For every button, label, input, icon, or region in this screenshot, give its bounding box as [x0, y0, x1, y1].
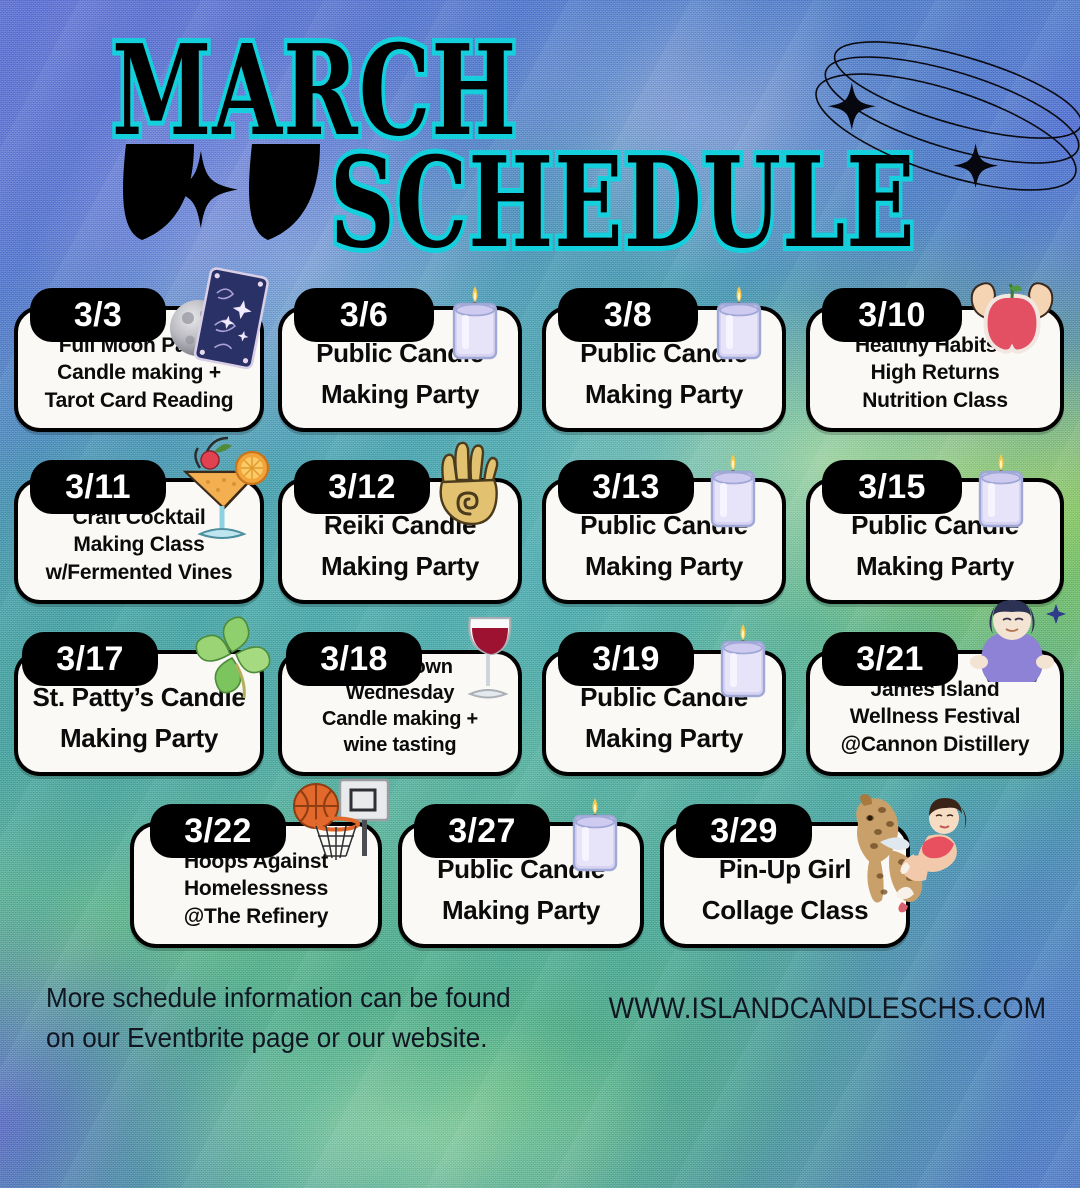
event-title: Reiki CandleMaking Party — [292, 505, 508, 586]
event-date-badge: 3/27 — [414, 804, 550, 858]
event-date-badge: 3/10 — [822, 288, 962, 342]
event-title: Craft CocktailMaking Classw/Fermented Vi… — [28, 504, 250, 586]
event-date-badge: 3/21 — [822, 632, 958, 686]
event-date-badge: 3/6 — [294, 288, 434, 342]
event-date: 3/6 — [340, 298, 388, 332]
event-date: 3/13 — [592, 470, 660, 504]
website-url[interactable]: WWW.ISLANDCANDLESCHS.COM — [608, 992, 1046, 1026]
orbit-rings-sparkles-icon — [790, 28, 1080, 228]
event-date: 3/11 — [65, 470, 131, 504]
event-date: 3/19 — [592, 642, 660, 676]
event-title: James IslandWellness Festival@Cannon Dis… — [820, 676, 1050, 758]
event-date: 3/29 — [710, 814, 778, 848]
footer-note-line1: More schedule information can be found — [46, 978, 511, 1018]
event-date: 3/10 — [858, 298, 926, 332]
event-date: 3/12 — [328, 470, 396, 504]
footer-note-line2: on our Eventbrite page or our website. — [46, 1018, 511, 1058]
event-title: Healthy Habits +High ReturnsNutrition Cl… — [820, 332, 1050, 414]
event-title: Public CandleMaking Party — [556, 505, 772, 586]
page-title-march: MARCH — [112, 16, 509, 120]
event-date-badge: 3/11 — [30, 460, 166, 514]
event-date-badge: 3/12 — [294, 460, 430, 514]
event-title: St. Patty’s CandleMaking Party — [28, 677, 250, 758]
event-title: Full Moon Party:Candle making +Tarot Car… — [28, 332, 250, 414]
petal-swoosh-sparkle-icon — [120, 140, 330, 245]
event-date-badge: 3/15 — [822, 460, 962, 514]
event-date-badge: 3/17 — [22, 632, 158, 686]
event-date-badge: 3/19 — [558, 632, 694, 686]
event-date: 3/15 — [858, 470, 926, 504]
poster-header: MARCH SCHEDULE — [0, 0, 1080, 258]
event-date-badge: 3/8 — [558, 288, 698, 342]
event-date: 3/21 — [856, 642, 924, 676]
event-title: Pin-Up GirlCollage Class — [674, 849, 896, 930]
event-date: 3/8 — [604, 298, 652, 332]
poster-footer: More schedule information can be found o… — [0, 970, 1080, 1080]
event-date-badge: 3/18 — [286, 632, 422, 686]
event-date-badge: 3/22 — [150, 804, 286, 858]
event-date-badge: 3/13 — [558, 460, 694, 514]
event-title: Public CandleMaking Party — [820, 505, 1050, 586]
event-date: 3/27 — [448, 814, 516, 848]
event-date: 3/3 — [74, 298, 122, 332]
event-title: Public CandleMaking Party — [292, 333, 508, 414]
schedule-row: St. Patty’s CandleMaking Party 3/17 Wine… — [0, 606, 1080, 778]
event-date: 3/17 — [56, 642, 124, 676]
schedule-row: Craft CocktailMaking Classw/Fermented Vi… — [0, 434, 1080, 606]
event-date-badge: 3/3 — [30, 288, 166, 342]
schedule-row: Full Moon Party:Candle making +Tarot Car… — [0, 262, 1080, 434]
schedule-grid: Full Moon Party:Candle making +Tarot Car… — [0, 262, 1080, 950]
event-date: 3/18 — [320, 642, 388, 676]
event-title: Hoops AgainstHomelessness@The Refinery — [144, 848, 368, 930]
event-title: Public CandleMaking Party — [412, 849, 630, 930]
event-date-badge: 3/29 — [676, 804, 812, 858]
footer-note: More schedule information can be found o… — [46, 978, 511, 1058]
event-date: 3/22 — [184, 814, 252, 848]
schedule-row: Hoops AgainstHomelessness@The Refinery 3… — [0, 778, 1080, 950]
event-title: Public CandleMaking Party — [556, 677, 772, 758]
event-title: Public CandleMaking Party — [556, 333, 772, 414]
